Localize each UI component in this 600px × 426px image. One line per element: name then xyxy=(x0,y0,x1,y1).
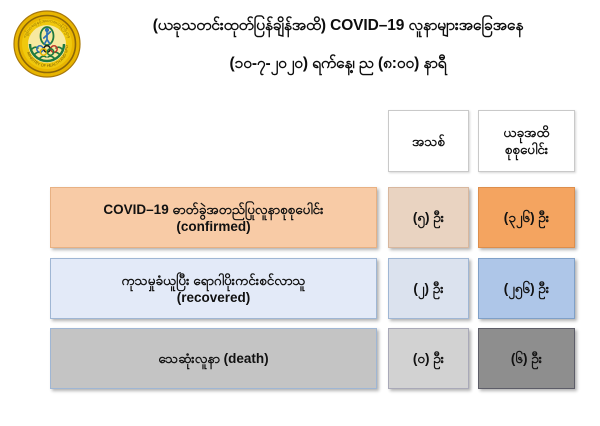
row-recovered-label-line-2: (recovered) xyxy=(121,289,305,306)
report-header: ကျန်းမာရေးနှင့်အားကစားဝန်ကြီးဌာန MINISTR… xyxy=(0,0,600,100)
covid-status-table: အသစ် ယခုအထိ စုစုပေါင်း COVID–19 ဓာတ်ခွဲအ… xyxy=(0,100,600,400)
column-header-total-line-1: ယခုအထိ xyxy=(503,124,549,141)
column-header-total-line-2: စုစုပေါင်း xyxy=(503,141,549,158)
column-header-new-label: အသစ် xyxy=(412,133,445,150)
row-death-label-line-1: သေဆုံးလူနာ (death) xyxy=(158,350,268,367)
column-header-new: အသစ် xyxy=(388,110,469,172)
report-title-datetime: (၁၀-၇-၂၀၂၀) ရက်နေ့၊ ည (၈:၀၀) နာရီ xyxy=(84,49,592,79)
report-title: (ယခုသတင်းထုတ်ပြန်ချိန်အထိ) COVID–19 လူနာ… xyxy=(84,11,592,79)
ministry-of-health-and-sports-seal-icon: ကျန်းမာရေးနှင့်အားကစားဝန်ကြီးဌာန MINISTR… xyxy=(13,10,81,78)
row-confirmed-label-line-2: (confirmed) xyxy=(103,218,323,235)
row-confirmed-new-value: (၅) ဦး xyxy=(388,187,469,248)
row-death-total-value: (၆) ဦး xyxy=(478,328,575,389)
row-confirmed-total-value: (၃၂၆) ဦး xyxy=(478,187,575,248)
report-title-line-1: (ယခုသတင်းထုတ်ပြန်ချိန်အထိ) COVID–19 လူနာ… xyxy=(84,11,592,41)
row-confirmed-label: COVID–19 ဓာတ်ခွဲအတည်ပြုလူနာစုစုပေါင်း (c… xyxy=(50,187,377,248)
row-recovered-label: ကုသမှုခံယူပြီး ရောဂါပိုးကင်းစင်လာသူ (rec… xyxy=(50,258,377,319)
row-confirmed-label-line-1: COVID–19 ဓာတ်ခွဲအတည်ပြုလူနာစုစုပေါင်း xyxy=(103,201,323,218)
row-recovered-label-line-1: ကုသမှုခံယူပြီး ရောဂါပိုးကင်းစင်လာသူ xyxy=(121,272,305,289)
row-death-label: သေဆုံးလူနာ (death) xyxy=(50,328,377,389)
row-death-new-value: (၀) ဦး xyxy=(388,328,469,389)
column-header-total: ယခုအထိ စုစုပေါင်း xyxy=(478,110,575,172)
row-recovered-total-value: (၂၅၆) ဦး xyxy=(478,258,575,319)
row-recovered-new-value: (၂) ဦး xyxy=(388,258,469,319)
